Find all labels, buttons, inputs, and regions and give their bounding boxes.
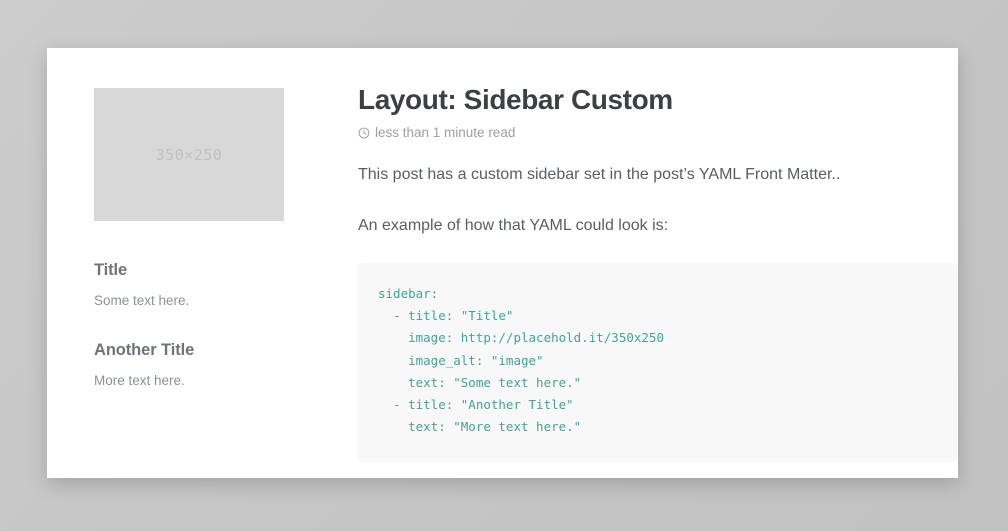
- sidebar-block: Title Some text here.: [94, 261, 284, 311]
- clock-icon: [358, 127, 370, 139]
- article-paragraph: This post has a custom sidebar set in th…: [358, 163, 958, 188]
- sidebar-block-title: Another Title: [94, 341, 284, 360]
- sidebar-block-text: More text here.: [94, 371, 284, 391]
- post-sidebar: 350×250 Title Some text here. Another Ti…: [94, 88, 294, 392]
- article-meta: less than 1 minute read: [358, 125, 958, 140]
- page-background: 350×250 Title Some text here. Another Ti…: [0, 0, 1008, 531]
- article-paragraph: An example of how that YAML could look i…: [358, 214, 958, 239]
- read-time-label: less than 1 minute read: [375, 125, 515, 140]
- sidebar-placeholder-image: 350×250: [94, 88, 284, 221]
- sidebar-block-title: Title: [94, 261, 284, 280]
- sidebar-block-text: Some text here.: [94, 291, 284, 311]
- sidebar-block: Another Title More text here.: [94, 341, 284, 391]
- placeholder-dimensions-label: 350×250: [156, 146, 223, 164]
- code-block: sidebar: - title: "Title" image: http://…: [358, 263, 958, 461]
- content-card: 350×250 Title Some text here. Another Ti…: [47, 48, 958, 478]
- article-content: Layout: Sidebar Custom less than 1 minut…: [358, 84, 958, 461]
- yaml-code: sidebar: - title: "Title" image: http://…: [378, 283, 934, 439]
- page-title: Layout: Sidebar Custom: [358, 84, 958, 116]
